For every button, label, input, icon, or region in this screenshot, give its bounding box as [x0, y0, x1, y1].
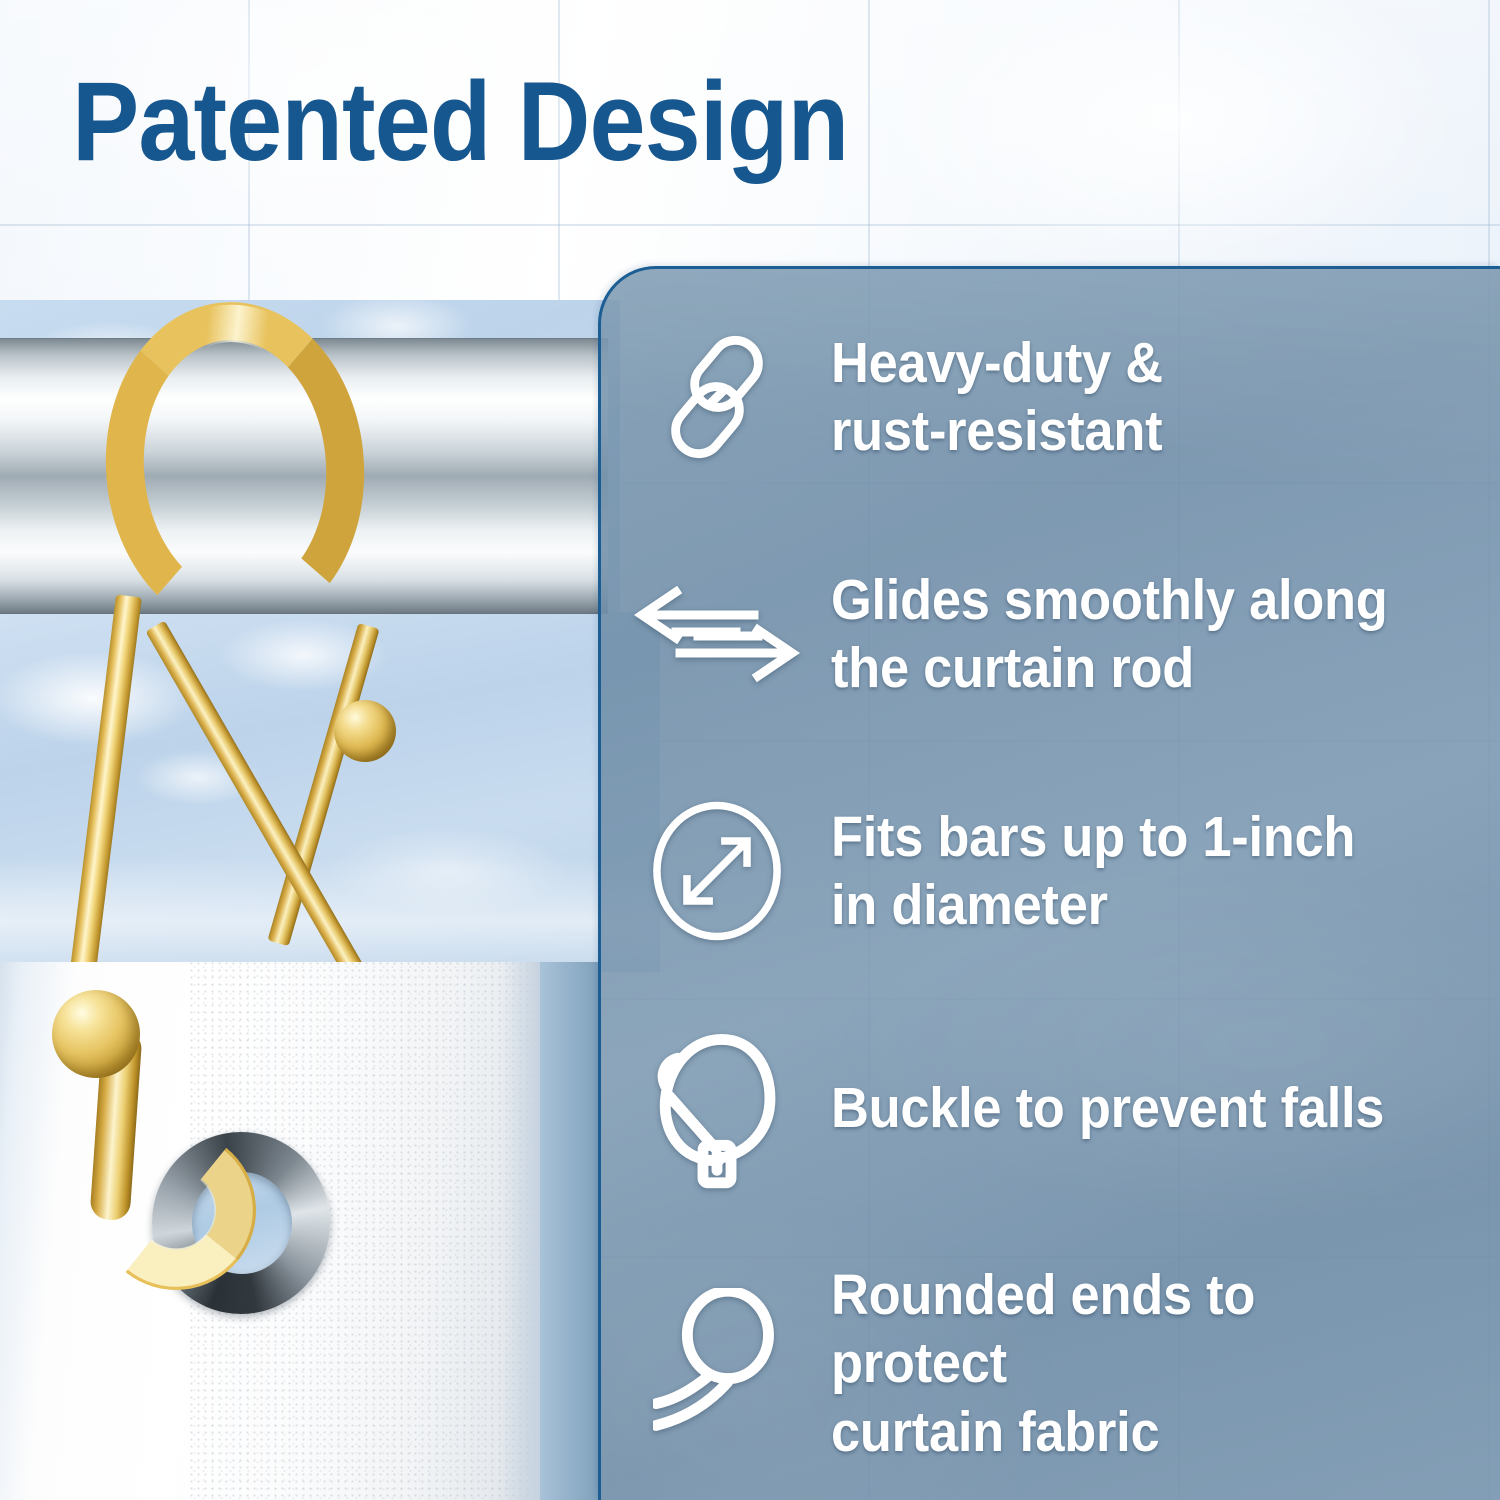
- feature-item: Rounded ends to protect curtain fabric: [629, 1261, 1474, 1466]
- feature-list: Heavy-duty & rust-resistant: [601, 269, 1500, 1500]
- rounded-end-icon: [629, 1288, 805, 1438]
- hook-end-ball-tip: [52, 990, 140, 1078]
- page-title: Patented Design: [72, 66, 848, 178]
- diameter-circle-icon: [629, 800, 805, 942]
- feature-item: Glides smoothly along the curtain rod: [629, 550, 1474, 718]
- buckle-carabiner-icon: [629, 1027, 805, 1189]
- hook-inner-arm: [145, 621, 374, 996]
- feature-label: Rounded ends to protect curtain fabric: [831, 1261, 1423, 1466]
- feature-panel: Heavy-duty & rust-resistant: [598, 266, 1500, 1500]
- hook-arc-highlight: [97, 296, 373, 638]
- chain-link-icon: [629, 329, 805, 465]
- bidirectional-arrows-icon: [629, 580, 805, 688]
- curtain-background-gap: [540, 962, 600, 1500]
- feature-item: Fits bars up to 1-inch in diameter: [629, 787, 1474, 955]
- feature-label: Fits bars up to 1-inch in diameter: [831, 803, 1355, 940]
- gold-hook-top-photo: [96, 296, 426, 976]
- hook-ball-joint: [334, 700, 396, 762]
- product-infographic: Heavy-duty & rust-resistant: [0, 0, 1500, 1500]
- feature-label: Buckle to prevent falls: [831, 1074, 1384, 1142]
- feature-label: Glides smoothly along the curtain rod: [831, 566, 1388, 703]
- feature-item: Heavy-duty & rust-resistant: [629, 313, 1474, 481]
- feature-label: Heavy-duty & rust-resistant: [831, 329, 1163, 466]
- feature-item: Buckle to prevent falls: [629, 1024, 1474, 1192]
